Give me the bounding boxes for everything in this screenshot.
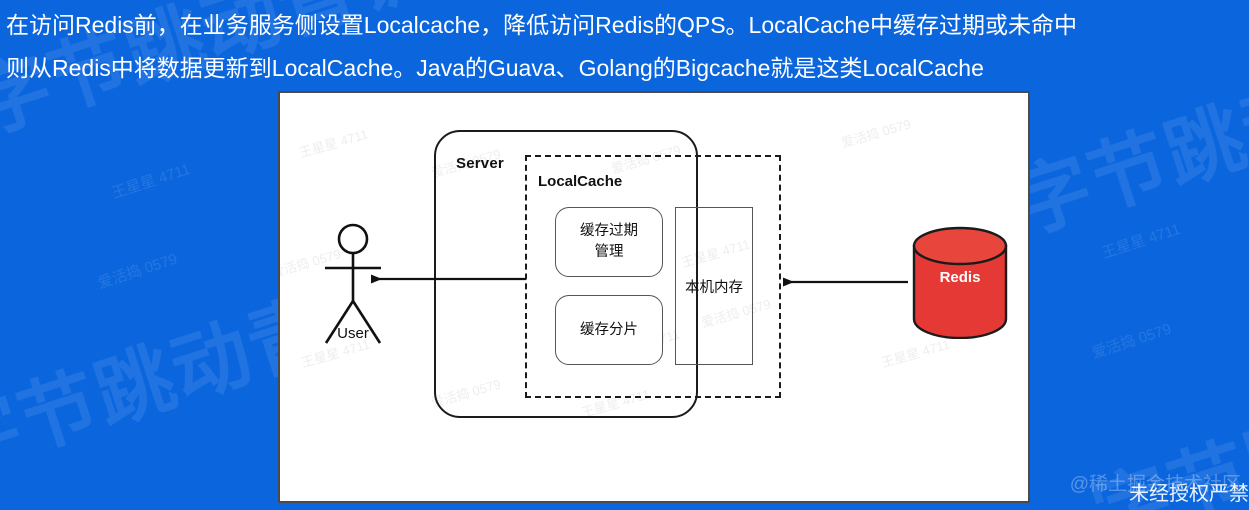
- cache-sharding-box: 缓存分片: [555, 295, 663, 365]
- slide-caption: 在访问Redis前，在业务服务侧设置Localcache，降低访问Redis的Q…: [6, 4, 1249, 90]
- panel-watermark: 王星星 4711: [297, 124, 370, 162]
- caption-line-2: 则从Redis中将数据更新到LocalCache。Java的Guava、Gola…: [6, 47, 1249, 90]
- watermark-brand-small-alt: 爱活捣 0579: [1089, 318, 1174, 363]
- redis-datastore-icon: [910, 226, 1010, 339]
- user-actor-label: User: [308, 325, 398, 342]
- diagram-panel: 王星星 4711 爱活捣 0579 爱活捣 0579 王星星 4711 王星星 …: [278, 91, 1030, 503]
- cache-expiry-management-label: 缓存过期管理: [580, 221, 638, 263]
- localcache-label: LocalCache: [538, 173, 622, 190]
- slide-canvas: 字节跳动青训营 字节跳动青训营 字节跳动青训营 字节跳动青训营 王星星 4711…: [0, 0, 1249, 510]
- panel-watermark: 爱活捣 0579: [839, 114, 913, 152]
- watermark-copyright-notice: 未经授权严禁: [1129, 477, 1249, 506]
- watermark-brand-small: 王星星 4711: [1099, 218, 1183, 263]
- cache-expiry-management-box: 缓存过期管理: [555, 207, 663, 277]
- caption-line-1: 在访问Redis前，在业务服务侧设置Localcache，降低访问Redis的Q…: [6, 4, 1249, 47]
- local-memory-box: 本机内存: [675, 207, 753, 365]
- cache-sharding-label: 缓存分片: [580, 320, 638, 341]
- watermark-brand-small: 王星星 4711: [109, 158, 193, 203]
- local-memory-label: 本机内存: [685, 276, 743, 297]
- server-label: Server: [456, 155, 504, 172]
- watermark-brand-small-alt: 爱活捣 0579: [95, 248, 180, 293]
- panel-watermark: 王星星 4711: [879, 334, 952, 372]
